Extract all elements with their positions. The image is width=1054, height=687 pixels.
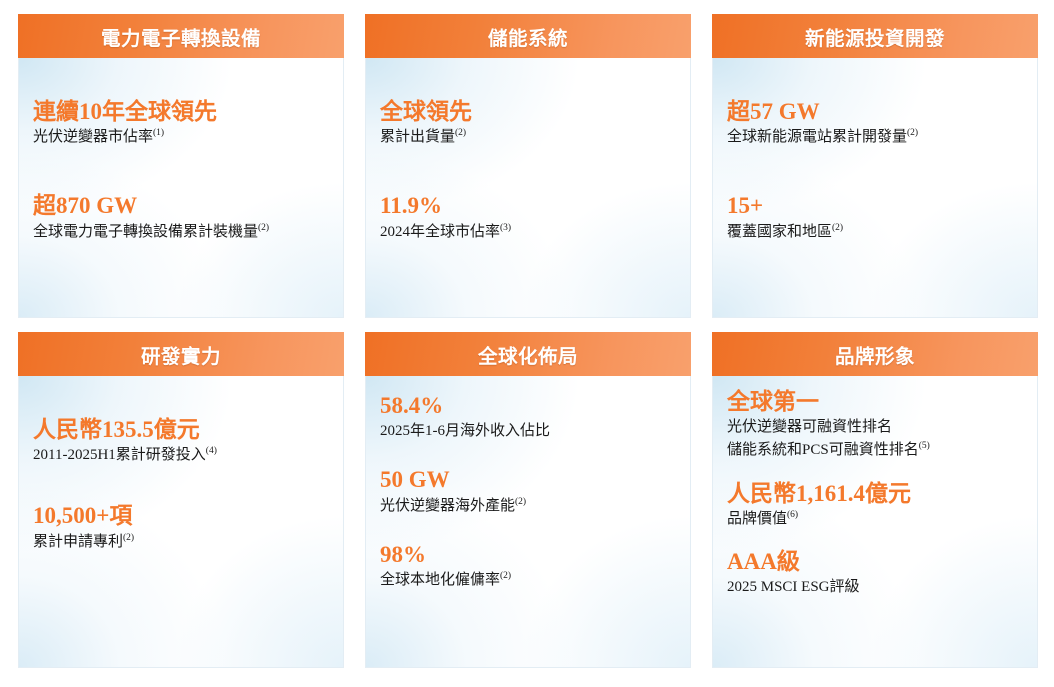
stat-label: 光伏逆變器可融資性排名 bbox=[727, 417, 1023, 438]
stat-value: 全球領先 bbox=[380, 98, 676, 125]
stat-label: 光伏逆變器市佔率(1) bbox=[33, 127, 329, 148]
card-body: 58.4% 2025年1-6月海外收入佔比 50 GW 光伏逆變器海外產能(2)… bbox=[365, 376, 691, 668]
card-body: 人民幣135.5億元 2011-2025H1累計研發投入(4) 10,500+項… bbox=[18, 376, 344, 668]
stat-value: 11.9% bbox=[380, 192, 676, 219]
stat-item: 連續10年全球領先 光伏逆變器市佔率(1) bbox=[33, 98, 329, 148]
card-grid: 電力電子轉換設備 連續10年全球領先 光伏逆變器市佔率(1) 超870 GW 全… bbox=[18, 14, 1038, 668]
stat-item: 全球領先 累計出貨量(2) bbox=[380, 98, 676, 148]
footnote-marker: (2) bbox=[455, 128, 466, 138]
footnote-marker: (1) bbox=[153, 128, 164, 138]
stat-label-text: 累計出貨量 bbox=[380, 129, 455, 145]
stat-label: 累計申請專利(2) bbox=[33, 532, 329, 553]
card-header: 儲能系統 bbox=[365, 14, 691, 58]
footnote-marker: (3) bbox=[500, 223, 511, 233]
stat-item: 10,500+項 累計申請專利(2) bbox=[33, 502, 329, 552]
highlights-board: 電力電子轉換設備 連續10年全球領先 光伏逆變器市佔率(1) 超870 GW 全… bbox=[0, 0, 1054, 687]
stat-label-text: 光伏逆變器市佔率 bbox=[33, 129, 153, 145]
stat-item: 15+ 覆蓋國家和地區(2) bbox=[727, 192, 1023, 242]
stat-list: 人民幣135.5億元 2011-2025H1累計研發投入(4) 10,500+項… bbox=[33, 416, 329, 553]
stat-item: 人民幣135.5億元 2011-2025H1累計研發投入(4) bbox=[33, 416, 329, 466]
stat-item: 11.9% 2024年全球市佔率(3) bbox=[380, 192, 676, 242]
footnote-marker: (2) bbox=[258, 223, 269, 233]
footnote-marker: (2) bbox=[500, 571, 511, 581]
stat-label: 全球本地化僱傭率(2) bbox=[380, 570, 676, 591]
stat-label: 全球新能源電站累計開發量(2) bbox=[727, 127, 1023, 148]
stat-label: 覆蓋國家和地區(2) bbox=[727, 222, 1023, 243]
footnote-marker: (2) bbox=[123, 533, 134, 543]
stat-label-text: 儲能系統和PCS可融資性排名 bbox=[727, 442, 919, 458]
stat-label: 全球電力電子轉換設備累計裝機量(2) bbox=[33, 222, 329, 243]
card-header: 研發實力 bbox=[18, 332, 344, 376]
card-renewable-investment: 新能源投資開發 超57 GW 全球新能源電站累計開發量(2) 15+ 覆蓋國家和… bbox=[712, 14, 1038, 318]
card-title: 儲能系統 bbox=[488, 22, 568, 51]
stat-value: 連續10年全球領先 bbox=[33, 98, 329, 125]
card-title: 研發實力 bbox=[141, 340, 221, 369]
card-title: 全球化佈局 bbox=[478, 340, 578, 369]
card-body: 超57 GW 全球新能源電站累計開發量(2) 15+ 覆蓋國家和地區(2) bbox=[712, 58, 1038, 318]
stat-label-text: 2025年1-6月海外收入佔比 bbox=[380, 423, 550, 439]
stat-value: 10,500+項 bbox=[33, 502, 329, 529]
card-body: 全球第一 光伏逆變器可融資性排名 儲能系統和PCS可融資性排名(5) 人民幣1,… bbox=[712, 376, 1038, 668]
stat-item: 58.4% 2025年1-6月海外收入佔比 bbox=[380, 392, 676, 442]
stat-label: 品牌價值(6) bbox=[727, 509, 1023, 530]
stat-label-text: 2025 MSCI ESG評級 bbox=[727, 579, 860, 595]
stat-label-text: 全球本地化僱傭率 bbox=[380, 572, 500, 588]
stat-label-text: 累計申請專利 bbox=[33, 534, 123, 550]
footnote-marker: (2) bbox=[832, 223, 843, 233]
stat-label-text: 2024年全球市佔率 bbox=[380, 224, 500, 240]
stat-value: 人民幣135.5億元 bbox=[33, 416, 329, 443]
stat-value: 98% bbox=[380, 541, 676, 568]
stat-value: 15+ bbox=[727, 192, 1023, 219]
stat-item: 超870 GW 全球電力電子轉換設備累計裝機量(2) bbox=[33, 192, 329, 242]
card-header: 電力電子轉換設備 bbox=[18, 14, 344, 58]
stat-item: 98% 全球本地化僱傭率(2) bbox=[380, 541, 676, 591]
footnote-marker: (2) bbox=[907, 128, 918, 138]
card-energy-storage: 儲能系統 全球領先 累計出貨量(2) 11.9% 2024年全球市佔率(3) bbox=[365, 14, 691, 318]
card-title: 新能源投資開發 bbox=[805, 22, 945, 51]
card-globalization: 全球化佈局 58.4% 2025年1-6月海外收入佔比 50 GW 光伏逆變器海… bbox=[365, 332, 691, 668]
stat-label-text: 覆蓋國家和地區 bbox=[727, 224, 832, 240]
stat-list: 連續10年全球領先 光伏逆變器市佔率(1) 超870 GW 全球電力電子轉換設備… bbox=[33, 98, 329, 243]
stat-label: 光伏逆變器海外產能(2) bbox=[380, 496, 676, 517]
card-header: 品牌形象 bbox=[712, 332, 1038, 376]
stat-label: 2024年全球市佔率(3) bbox=[380, 222, 676, 243]
stat-label-text: 光伏逆變器可融資性排名 bbox=[727, 419, 892, 435]
stat-label: 儲能系統和PCS可融資性排名(5) bbox=[727, 440, 1023, 461]
stat-label-text: 光伏逆變器海外產能 bbox=[380, 498, 515, 514]
stat-item: AAA級 2025 MSCI ESG評級 bbox=[727, 548, 1023, 598]
stat-label-text: 品牌價值 bbox=[727, 511, 787, 527]
footnote-marker: (5) bbox=[919, 441, 930, 451]
footnote-marker: (4) bbox=[206, 446, 217, 456]
stat-value: 超870 GW bbox=[33, 192, 329, 219]
stat-label-text: 2011-2025H1累計研發投入 bbox=[33, 447, 206, 463]
stat-label: 2025年1-6月海外收入佔比 bbox=[380, 421, 676, 442]
stat-value: 全球第一 bbox=[727, 388, 1023, 415]
card-body: 全球領先 累計出貨量(2) 11.9% 2024年全球市佔率(3) bbox=[365, 58, 691, 318]
stat-value: 58.4% bbox=[380, 392, 676, 419]
card-rnd-strength: 研發實力 人民幣135.5億元 2011-2025H1累計研發投入(4) 10,… bbox=[18, 332, 344, 668]
stat-label-text: 全球新能源電站累計開發量 bbox=[727, 129, 907, 145]
stat-list: 超57 GW 全球新能源電站累計開發量(2) 15+ 覆蓋國家和地區(2) bbox=[727, 98, 1023, 243]
card-title: 品牌形象 bbox=[835, 340, 915, 369]
stat-item: 超57 GW 全球新能源電站累計開發量(2) bbox=[727, 98, 1023, 148]
stat-item: 人民幣1,161.4億元 品牌價值(6) bbox=[727, 480, 1023, 530]
stat-label-text: 全球電力電子轉換設備累計裝機量 bbox=[33, 224, 258, 240]
stat-item: 全球第一 光伏逆變器可融資性排名 儲能系統和PCS可融資性排名(5) bbox=[727, 388, 1023, 462]
card-header: 新能源投資開發 bbox=[712, 14, 1038, 58]
stat-label: 2025 MSCI ESG評級 bbox=[727, 577, 1023, 598]
stat-value: 超57 GW bbox=[727, 98, 1023, 125]
stat-item: 50 GW 光伏逆變器海外產能(2) bbox=[380, 466, 676, 516]
stat-label: 2011-2025H1累計研發投入(4) bbox=[33, 445, 329, 466]
footnote-marker: (6) bbox=[787, 510, 798, 520]
card-header: 全球化佈局 bbox=[365, 332, 691, 376]
footnote-marker: (2) bbox=[515, 497, 526, 507]
card-title: 電力電子轉換設備 bbox=[101, 22, 261, 51]
card-brand-image: 品牌形象 全球第一 光伏逆變器可融資性排名 儲能系統和PCS可融資性排名(5) … bbox=[712, 332, 1038, 668]
stat-label: 累計出貨量(2) bbox=[380, 127, 676, 148]
card-body: 連續10年全球領先 光伏逆變器市佔率(1) 超870 GW 全球電力電子轉換設備… bbox=[18, 58, 344, 318]
stat-list: 58.4% 2025年1-6月海外收入佔比 50 GW 光伏逆變器海外產能(2)… bbox=[380, 392, 676, 591]
stat-value: 50 GW bbox=[380, 466, 676, 493]
stat-value: AAA級 bbox=[727, 548, 1023, 575]
stat-list: 全球第一 光伏逆變器可融資性排名 儲能系統和PCS可融資性排名(5) 人民幣1,… bbox=[727, 388, 1023, 599]
stat-list: 全球領先 累計出貨量(2) 11.9% 2024年全球市佔率(3) bbox=[380, 98, 676, 243]
card-power-electronics: 電力電子轉換設備 連續10年全球領先 光伏逆變器市佔率(1) 超870 GW 全… bbox=[18, 14, 344, 318]
stat-value: 人民幣1,161.4億元 bbox=[727, 480, 1023, 507]
